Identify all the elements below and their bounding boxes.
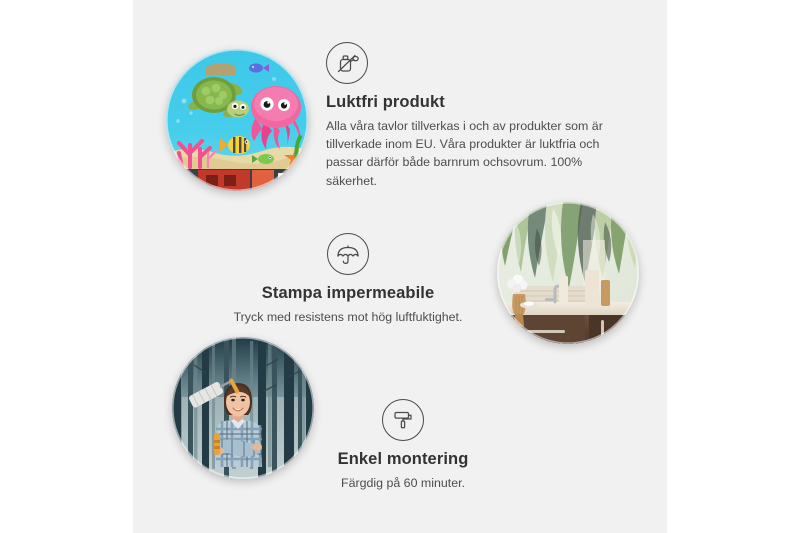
feature-body: Alla våra tavlor tillverkas i och av pro… bbox=[326, 117, 618, 190]
feature-waterproof: Stampa impermeabile Tryck med resistens … bbox=[206, 233, 490, 326]
paint-roller-icon bbox=[382, 399, 424, 441]
umbrella-icon bbox=[327, 233, 369, 275]
underwater-illustration bbox=[166, 49, 308, 191]
forest-photo bbox=[172, 337, 314, 479]
feature-title: Stampa impermeabile bbox=[206, 284, 490, 303]
photo-forest bbox=[172, 337, 314, 479]
no-fragrance-icon bbox=[326, 42, 368, 84]
feature-easy-mount: Enkel montering Färgdig på 60 minuter. bbox=[305, 399, 501, 492]
feature-odourless: Luktfri produkt Alla våra tavlor tillver… bbox=[326, 42, 622, 190]
photo-bathroom bbox=[497, 202, 639, 344]
photo-underwater bbox=[166, 49, 308, 191]
feature-body: Färgdig på 60 minuter. bbox=[305, 474, 501, 492]
bathroom-photo bbox=[497, 202, 639, 344]
feature-title: Enkel montering bbox=[305, 450, 501, 469]
feature-body: Tryck med resistens mot hög luftfuktighe… bbox=[206, 308, 490, 326]
screenshot-root: Luktfri produkt Alla våra tavlor tillver… bbox=[0, 0, 800, 533]
feature-title: Luktfri produkt bbox=[326, 93, 622, 112]
